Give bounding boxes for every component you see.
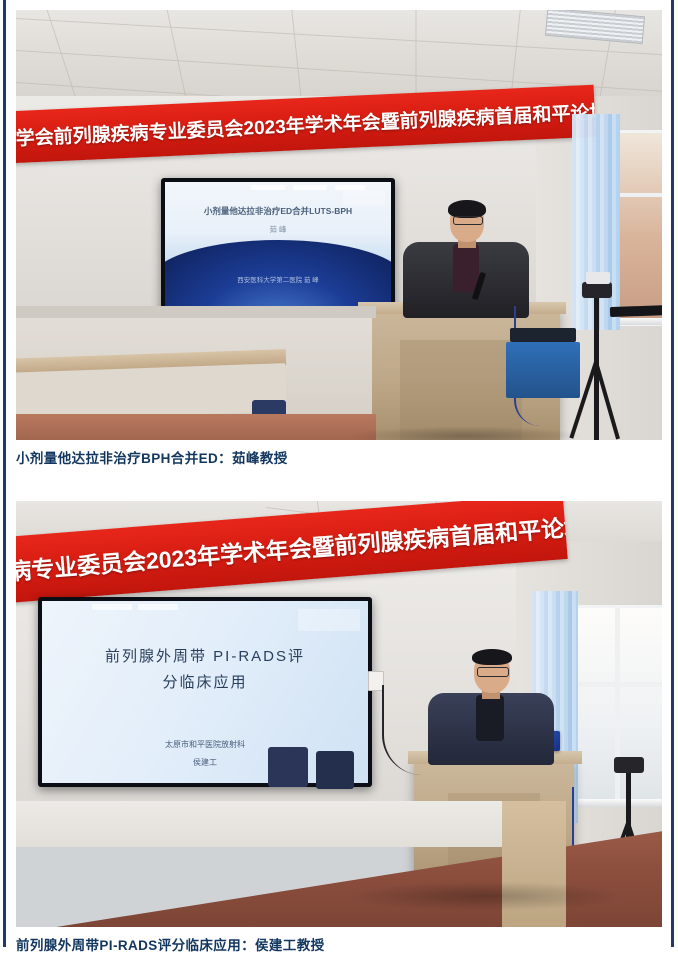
window-1 [616, 130, 662, 326]
slide-footer-line1-2: 太原市和平医院放射科 [42, 739, 368, 750]
figure-1-caption: 小剂量他达拉非治疗BPH合并ED：茹峰教授 [16, 440, 662, 469]
lower-wall-2 [16, 801, 536, 847]
page-left-border [3, 0, 6, 947]
page-right-border [671, 0, 674, 947]
conference-photo-1: 性学会前列腺疾病专业委员会2023年学术年会暨前列腺疾病首届和平论坛 小剂量他达… [16, 10, 662, 440]
slide-footer-1: 西安医科大学第二医院 茹 峰 [165, 274, 391, 284]
equipment-cart-1 [506, 342, 580, 398]
article-page: 性学会前列腺疾病专业委员会2023年学术年会暨前列腺疾病首届和平论坛 小剂量他达… [0, 0, 678, 947]
wall-baseboard-1 [16, 306, 376, 318]
presentation-screen-1: 小剂量他达拉非治疗ED合并LUTS-BPH 茹 峰 西安医科大学第二医院 茹 峰 [161, 178, 395, 314]
camera-head-2 [614, 757, 644, 773]
figure-1: 性学会前列腺疾病专业委员会2023年学术年会暨前列腺疾病首届和平论坛 小剂量他达… [16, 10, 662, 469]
figure-2: 疾病专业委员会2023年学术年会暨前列腺疾病首届和平论坛 前列腺外周带 PI-R… [16, 501, 662, 956]
speaker-2 [428, 649, 558, 761]
camera-head-1 [582, 282, 612, 298]
power-strip-1 [610, 305, 662, 317]
slide-title-1: 小剂量他达拉非治疗ED合并LUTS-BPH [165, 205, 391, 217]
chair-3 [316, 751, 354, 789]
camera-body-1 [586, 272, 610, 284]
slide-title-2: 前列腺外周带 PI-RADS评 [42, 645, 368, 666]
slide-subtitle-1: 茹 峰 [165, 224, 391, 235]
floor-strip-1 [16, 414, 376, 440]
window-2 [572, 605, 662, 807]
speaker-1 [401, 200, 531, 312]
chair-2 [268, 747, 308, 787]
slide-surface-1: 小剂量他达拉非治疗ED合并LUTS-BPH 茹 峰 西安医科大学第二医院 茹 峰 [165, 182, 391, 310]
equipment-top-1 [510, 328, 576, 342]
slide-title-line2-2: 分临床应用 [42, 671, 368, 692]
page-content: 性学会前列腺疾病专业委员会2023年学术年会暨前列腺疾病首届和平论坛 小剂量他达… [16, 0, 662, 957]
figure-2-caption: 前列腺外周带PI-RADS评分临床应用：侯建工教授 [16, 927, 662, 956]
conference-photo-2: 疾病专业委员会2023年学术年会暨前列腺疾病首届和平论坛 前列腺外周带 PI-R… [16, 501, 662, 927]
